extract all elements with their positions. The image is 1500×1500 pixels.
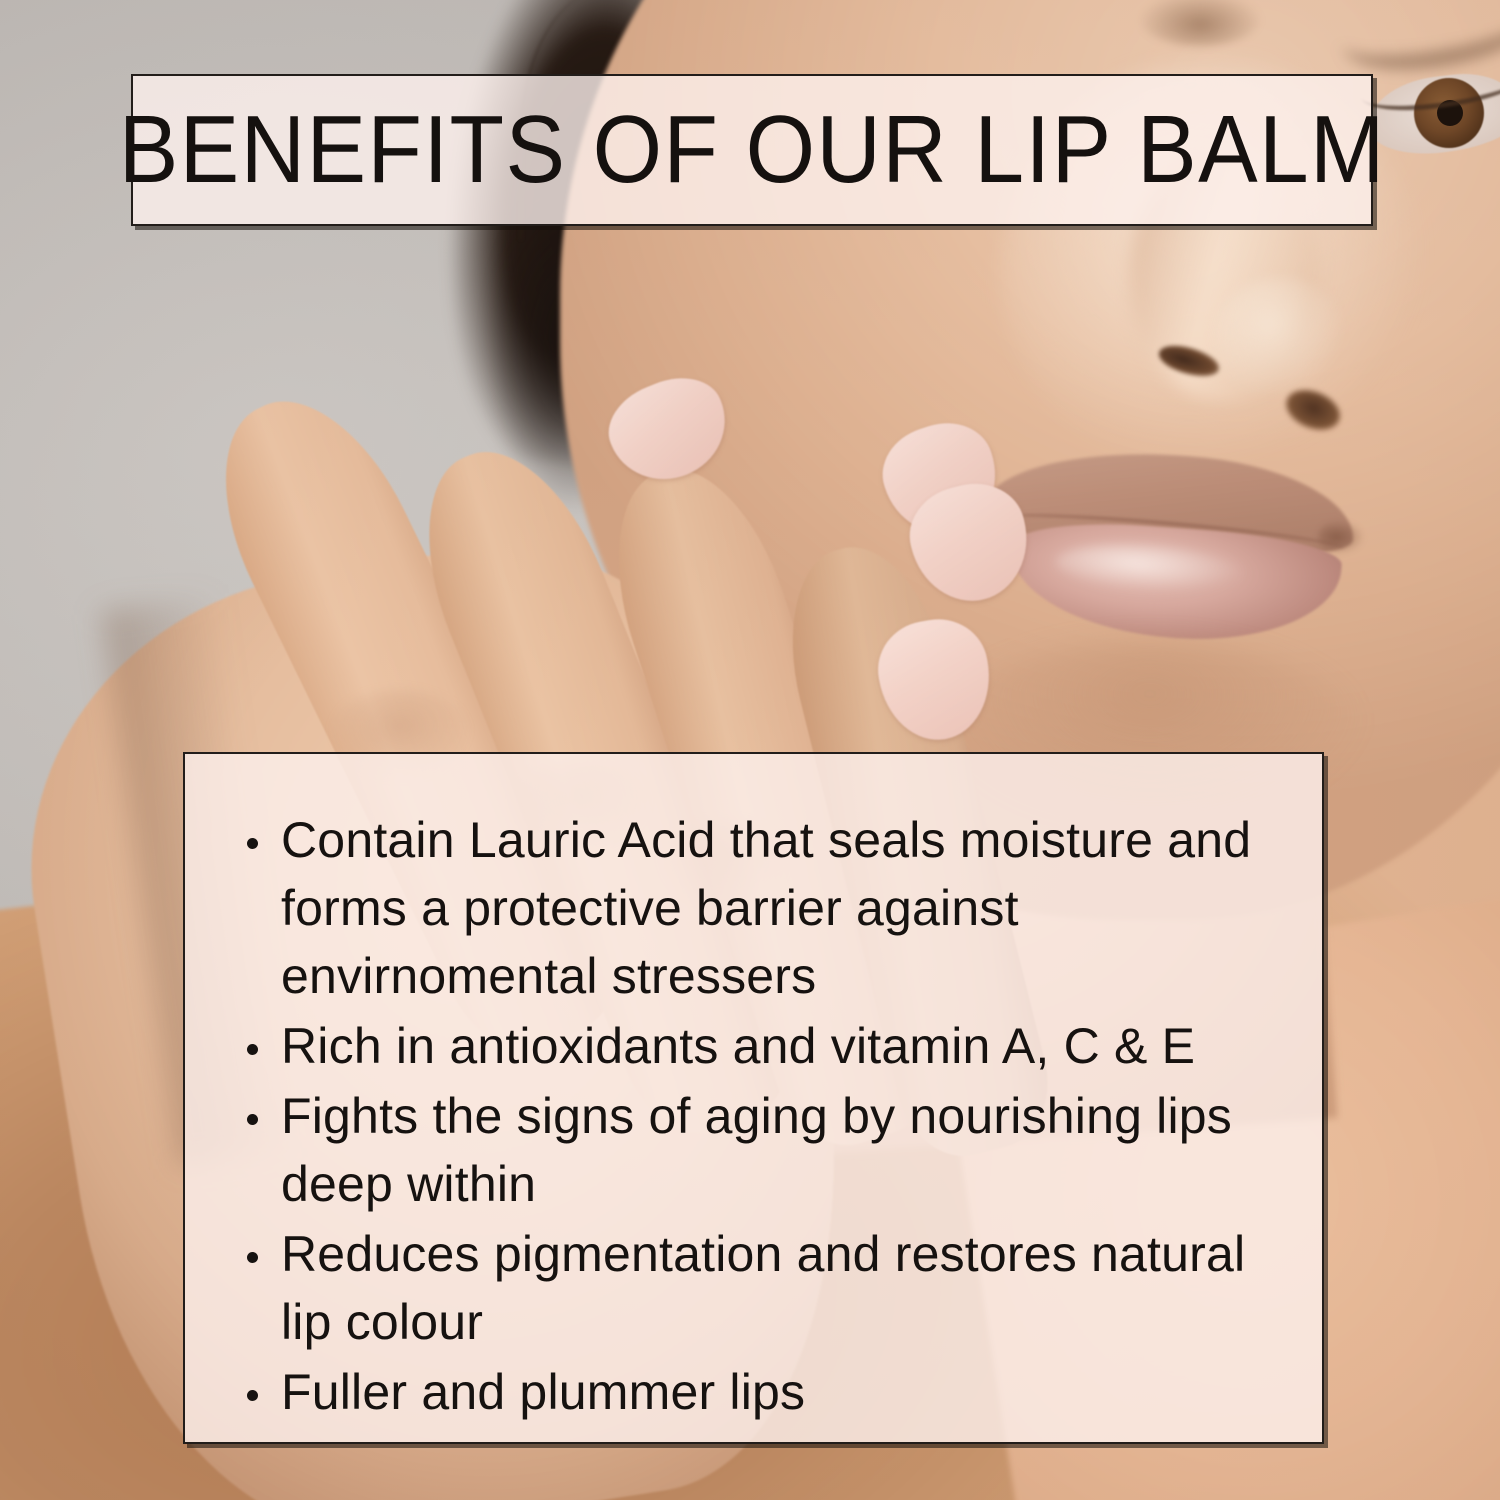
mouth-corner bbox=[1318, 520, 1364, 554]
title-panel: BENEFITS OF OUR LIP BALM bbox=[131, 74, 1373, 226]
benefits-panel: Contain Lauric Acid that seals moisture … bbox=[183, 752, 1324, 1444]
poster-canvas: BENEFITS OF OUR LIP BALM Contain Lauric … bbox=[0, 0, 1500, 1500]
list-item: Fuller and plummer lips bbox=[245, 1358, 1278, 1426]
benefits-list: Contain Lauric Acid that seals moisture … bbox=[245, 806, 1278, 1428]
list-item: Contain Lauric Acid that seals moisture … bbox=[245, 806, 1278, 1010]
nose-tip bbox=[1215, 278, 1345, 398]
list-item: Fights the signs of aging by nourishing … bbox=[245, 1082, 1278, 1218]
page-title: BENEFITS OF OUR LIP BALM bbox=[118, 102, 1385, 198]
list-item: Rich in antioxidants and vitamin A, C & … bbox=[245, 1012, 1278, 1080]
list-item: Reduces pigmentation and restores natura… bbox=[245, 1220, 1278, 1356]
